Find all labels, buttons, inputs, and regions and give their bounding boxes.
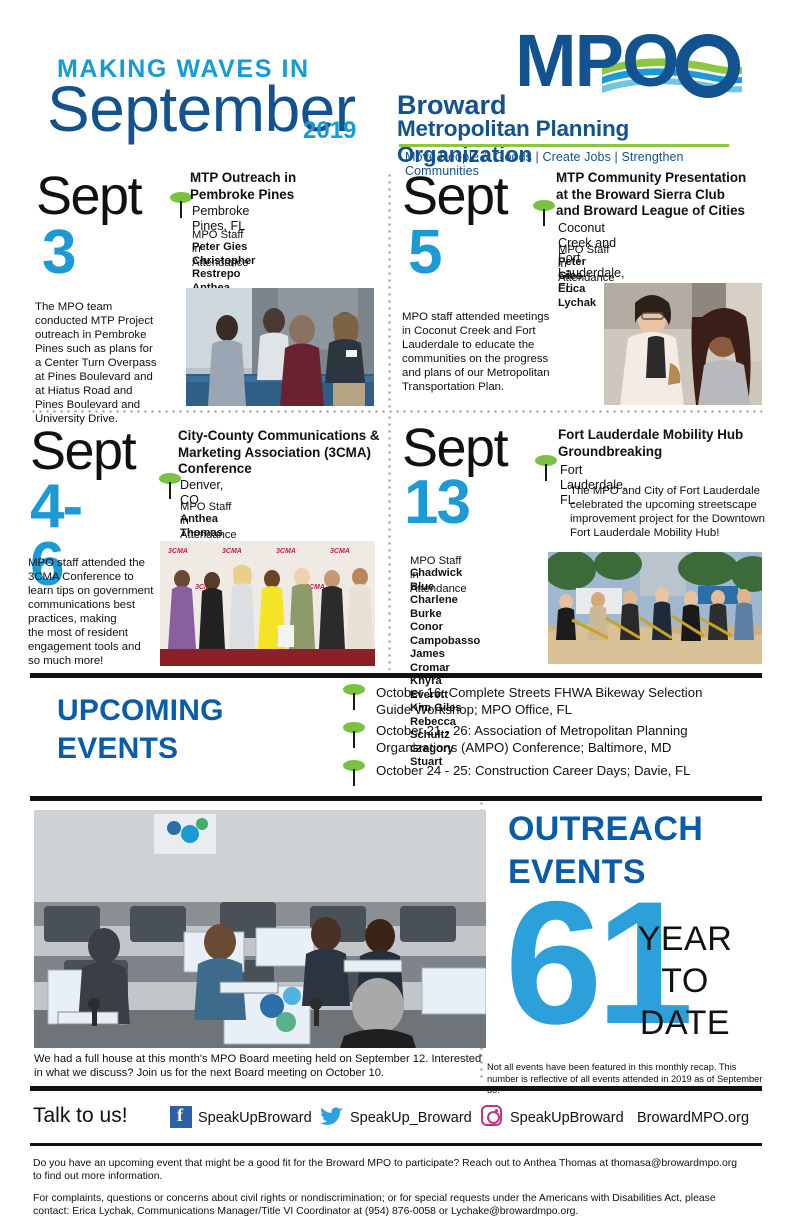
facebook-icon[interactable] <box>170 1106 192 1128</box>
svg-text:3CMA: 3CMA <box>168 548 188 555</box>
event-photo: 3CMA3CMA 3CMA3CMA 3CMA3CMA <box>160 541 375 666</box>
event-description: The MPO and City of Fort Lauderdale cele… <box>570 484 770 540</box>
event-month-label: Sept <box>402 422 507 474</box>
event-title: Fort Lauderdale Mobility Hub Groundbreak… <box>558 427 763 460</box>
divider-thick-outreach <box>30 795 762 802</box>
logo-mpo-text: MPO <box>515 24 678 98</box>
facebook-handle[interactable]: SpeakUpBroward <box>198 1110 312 1126</box>
event-description: The MPO team conducted MTP Project outre… <box>35 300 180 426</box>
logo-o-ring-icon <box>676 34 740 98</box>
newsletter-page: MAKING WAVES IN September 2019 MPO Browa… <box>0 0 792 1224</box>
instagram-icon[interactable] <box>481 1105 503 1127</box>
upcoming-events-title: UPCOMING EVENTS <box>57 692 224 768</box>
event-title: MTP Outreach in Pembroke Pines <box>190 170 375 203</box>
svg-text:3CMA: 3CMA <box>330 548 350 555</box>
outreach-disclaimer: Not all events have been featured in thi… <box>487 1062 767 1097</box>
event-description: MPO staff attended meetings in Coconut C… <box>402 310 577 394</box>
event-month-label: Sept <box>402 170 507 222</box>
twitter-handle[interactable]: SpeakUp_Broward <box>350 1110 472 1126</box>
map-pin-icon <box>343 722 365 748</box>
website-link[interactable]: BrowardMPO.org <box>637 1110 749 1126</box>
event-staff-list: Anthea Thomas <box>180 513 223 540</box>
event-day-number: 5 <box>408 224 440 282</box>
divider-dotted-col-top <box>388 172 391 410</box>
upcoming-event-item: October 21 - 26: Association of Metropol… <box>376 722 766 756</box>
contact-note: Do you have an upcoming event that might… <box>33 1157 745 1183</box>
event-title: MTP Community Presentation at the Browar… <box>556 170 771 220</box>
map-pin-icon <box>533 200 555 226</box>
twitter-icon[interactable] <box>320 1107 342 1129</box>
year-to-date-label: YEAR TO DATE <box>620 918 750 1044</box>
map-pin-icon <box>170 192 192 218</box>
event-day-number: 13 <box>404 474 469 532</box>
upcoming-event-item: October 24 - 25: Construction Career Day… <box>376 762 766 779</box>
talk-to-us-label: Talk to us! <box>33 1104 128 1128</box>
map-pin-icon <box>343 684 365 710</box>
event-photo <box>186 288 374 406</box>
event-photo <box>604 283 762 405</box>
upcoming-event-item: October 16: Complete Streets FHWA Bikewa… <box>376 684 766 718</box>
instagram-handle[interactable]: SpeakUpBroward <box>510 1110 624 1126</box>
map-pin-icon <box>343 760 365 786</box>
board-meeting-photo <box>34 810 486 1048</box>
svg-text:3CMA: 3CMA <box>222 548 242 555</box>
logo-divider <box>399 144 729 147</box>
legal-note: For complaints, questions or concerns ab… <box>33 1192 745 1218</box>
event-description: MPO staff attended the 3CMA Conference t… <box>28 556 168 668</box>
header-year: 2019 <box>303 117 356 145</box>
divider-thin-footer <box>30 1143 762 1146</box>
event-staff-list: Peter Gies Erica Lychak <box>558 256 596 310</box>
board-meeting-caption: We had a full house at this month's MPO … <box>34 1053 484 1080</box>
event-day-number: 3 <box>42 224 74 282</box>
map-pin-icon <box>535 455 557 481</box>
event-photo <box>548 552 762 664</box>
event-month-label: Sept <box>36 170 141 222</box>
svg-text:3CMA: 3CMA <box>276 548 296 555</box>
divider-thick-upcoming <box>30 672 762 679</box>
event-title: City-County Communications & Marketing A… <box>178 428 393 478</box>
broward-mpo-logo: MPO Broward Metropolitan Planning Organi… <box>397 28 742 163</box>
event-month-label: Sept <box>30 425 135 477</box>
page-header: MAKING WAVES IN September 2019 MPO Browa… <box>0 0 792 168</box>
